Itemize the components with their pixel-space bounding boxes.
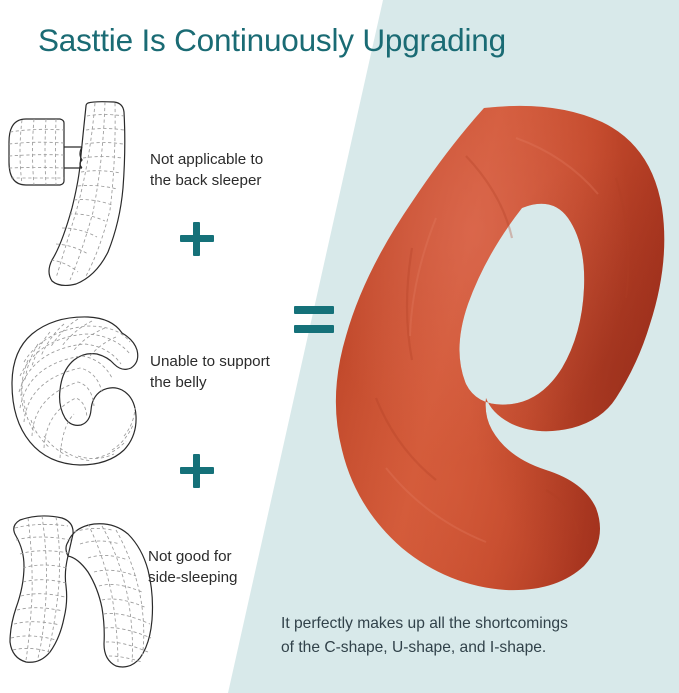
note-u-shape-line-1: Not good for: [148, 547, 300, 568]
note-c-shape-line-2: the belly: [150, 373, 302, 394]
j-shape-pillow-illustration: [4, 92, 152, 290]
page-title: Sasttie Is Continuously Upgrading: [38, 22, 648, 59]
c-shape-pillow-illustration: [4, 302, 150, 468]
hero-product-image: [316, 98, 679, 598]
g-shape-pillow-graphic: [316, 98, 679, 598]
note-u-shape-line-2: side-sleeping: [148, 568, 300, 589]
infographic-page: Sasttie Is Continuously Upgrading: [0, 0, 679, 693]
caption-line-2: of the C-shape, U-shape, and I-shape.: [281, 636, 661, 660]
note-j-shape: Not applicable to the back sleeper: [150, 150, 302, 191]
u-shape-pillow-illustration: [2, 500, 164, 682]
plus-operator-icon-2: [180, 454, 214, 488]
note-c-shape: Unable to support the belly: [150, 352, 302, 393]
plus-operator-icon: [180, 222, 214, 256]
caption-line-1: It perfectly makes up all the shortcomin…: [281, 612, 661, 636]
u-shape-icon: [2, 500, 164, 682]
product-caption: It perfectly makes up all the shortcomin…: [281, 612, 661, 660]
note-c-shape-line-1: Unable to support: [150, 352, 302, 373]
note-j-shape-line-1: Not applicable to: [150, 150, 302, 171]
j-shape-icon: [4, 92, 152, 290]
note-u-shape: Not good for side-sleeping: [148, 547, 300, 588]
note-j-shape-line-2: the back sleeper: [150, 171, 302, 192]
c-shape-icon: [4, 302, 150, 468]
